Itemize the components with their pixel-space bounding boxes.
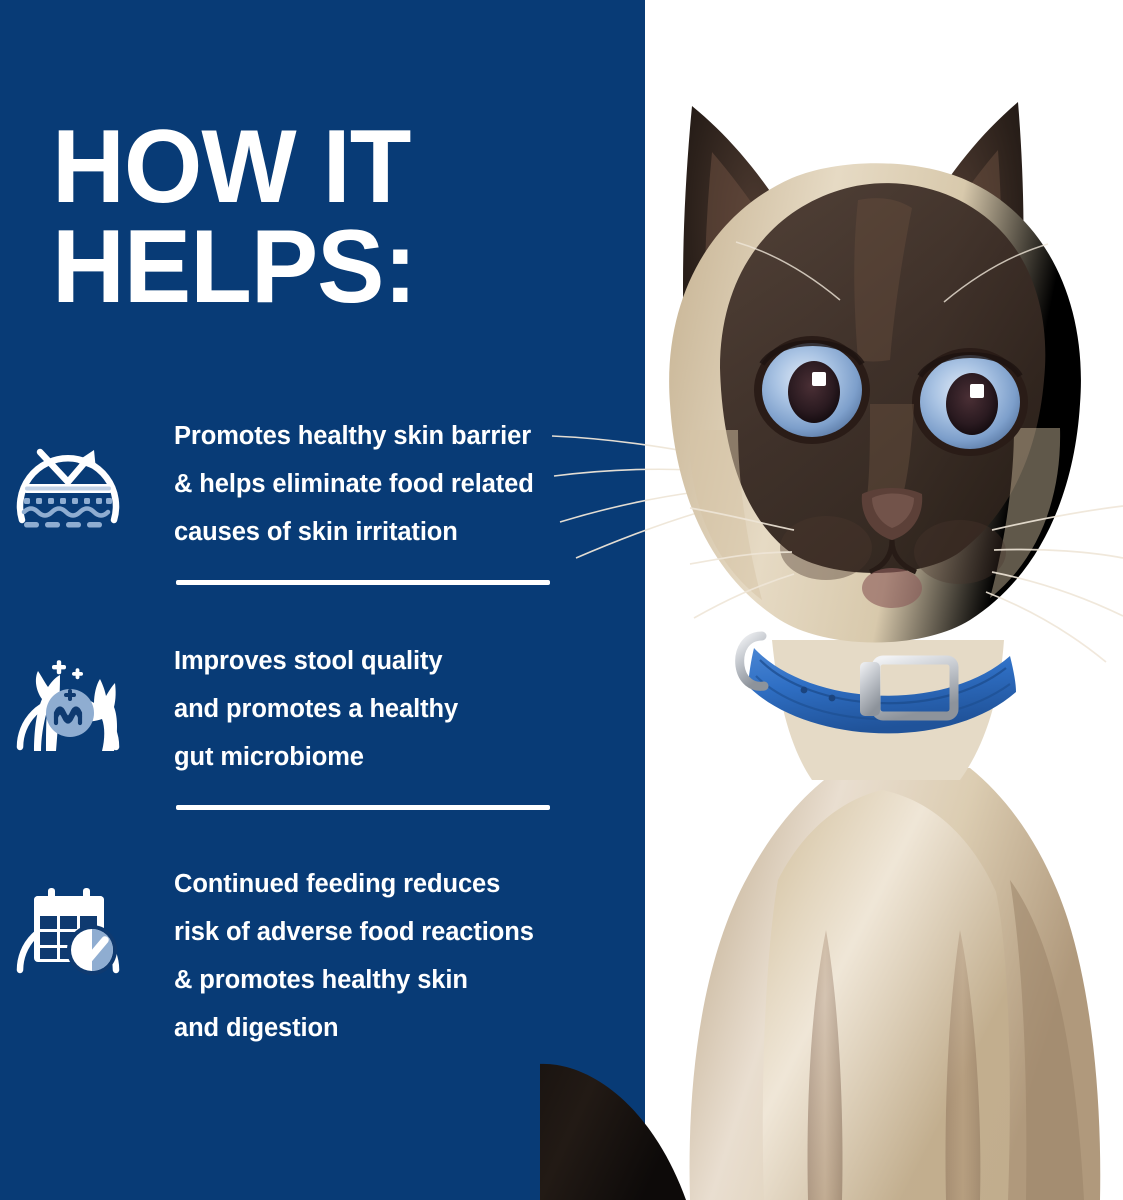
benefit-line: gut microbiome	[174, 733, 645, 781]
benefit-divider	[176, 805, 550, 810]
benefit-text: Promotes healthy skin barrier & helps el…	[128, 400, 645, 556]
skin-barrier-icon	[8, 416, 128, 536]
benefit-line: Promotes healthy skin barrier	[174, 412, 645, 460]
headline-line-1: HOW IT	[52, 118, 595, 218]
benefit-line: and promotes a healthy	[174, 685, 645, 733]
benefit-text: Improves stool quality and promotes a he…	[128, 625, 645, 781]
benefit-line: Improves stool quality	[174, 637, 645, 685]
benefit-text: Continued feeding reduces risk of advers…	[128, 848, 645, 1052]
headline-line-2: HELPS:	[52, 218, 595, 318]
benefit-divider	[176, 580, 550, 585]
benefit-line: causes of skin irritation	[174, 508, 645, 556]
benefit-line: & helps eliminate food related	[174, 460, 645, 508]
benefits-list: Promotes healthy skin barrier & helps el…	[0, 400, 645, 1052]
benefit-item: Improves stool quality and promotes a he…	[0, 625, 645, 781]
benefit-line: and digestion	[174, 1004, 645, 1052]
infographic-poster: HOW IT HELPS:	[0, 0, 1123, 1200]
benefit-line: Continued feeding reduces	[174, 860, 645, 908]
calendar-check-icon	[8, 864, 128, 984]
benefit-line: & promotes healthy skin	[174, 956, 645, 1004]
benefit-line: risk of adverse food reactions	[174, 908, 645, 956]
cat-gut-microbiome-icon	[8, 641, 128, 761]
page-title: HOW IT HELPS:	[52, 118, 595, 318]
benefit-item: Promotes healthy skin barrier & helps el…	[0, 400, 645, 556]
benefit-item: Continued feeding reduces risk of advers…	[0, 848, 645, 1052]
